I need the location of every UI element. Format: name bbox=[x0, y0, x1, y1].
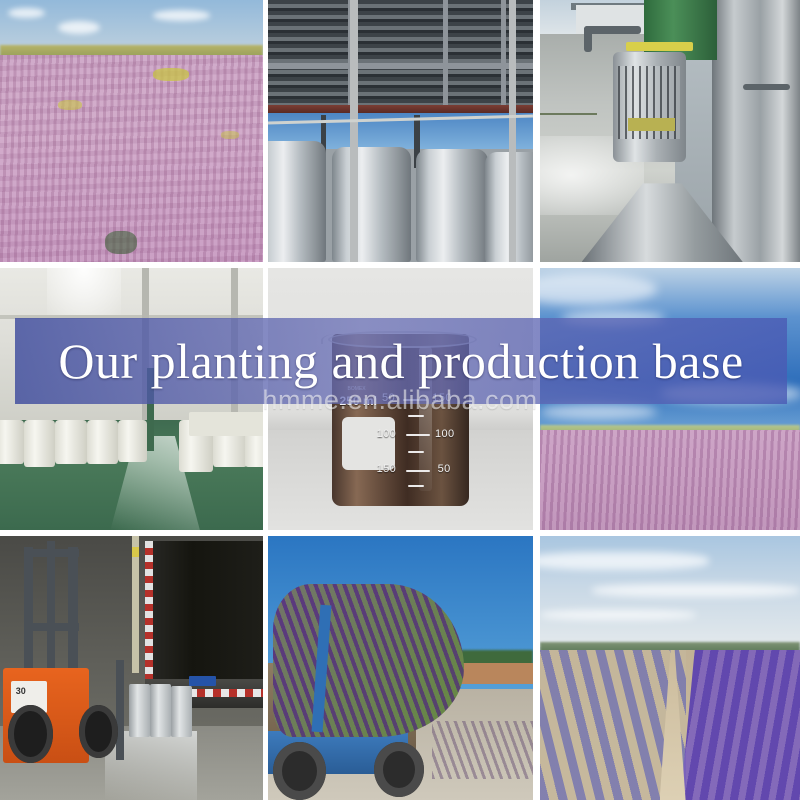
scale-label-right-2: 100 bbox=[435, 428, 455, 440]
harvested-lavender-load bbox=[273, 584, 464, 737]
side-pipe bbox=[743, 84, 790, 91]
scale-label-left-3: 150 bbox=[377, 463, 397, 475]
metal-drum bbox=[171, 686, 192, 736]
jerrycan-cap bbox=[189, 412, 263, 436]
storage-tank bbox=[268, 141, 326, 262]
jerrycan bbox=[118, 420, 147, 462]
forklift-crossbar bbox=[24, 623, 79, 631]
forklift-model-number: 30 bbox=[16, 686, 26, 696]
grid-gap bbox=[533, 0, 540, 262]
flower-field-region bbox=[0, 55, 263, 262]
cloud-shape bbox=[592, 584, 800, 597]
collage-tile-top-left[interactable]: Clary sage flower field in bloom under b… bbox=[0, 0, 263, 262]
metal-drum bbox=[150, 684, 171, 737]
lavender-rows-photo bbox=[540, 536, 800, 800]
wall-light-glare bbox=[47, 268, 121, 320]
forklift-loading-photo: 30 合力叉车 bbox=[0, 536, 263, 800]
banner-headline: Our planting and production base bbox=[58, 336, 743, 386]
yellow-flower-patch bbox=[58, 100, 82, 110]
truck-door-edge bbox=[145, 541, 153, 678]
forklift-crossbar bbox=[24, 549, 79, 557]
inlet-pipe bbox=[584, 26, 641, 34]
collage-tile-bottom-center[interactable]: Tractor trailer loaded with freshly harv… bbox=[268, 536, 533, 800]
jerrycan bbox=[24, 420, 56, 467]
inlet-pipe bbox=[584, 26, 592, 52]
collage-tile-top-right[interactable]: Stainless steel essential oil separator … bbox=[540, 0, 800, 262]
steel-tank-wall bbox=[712, 0, 800, 262]
scattered-harvest-debris bbox=[432, 721, 533, 779]
collage-tile-bottom-left[interactable]: 30 合力叉车 Orange forklift loading metal dr… bbox=[0, 536, 263, 800]
metal-drum bbox=[129, 684, 150, 737]
reflective-stripe bbox=[189, 689, 263, 697]
oil-layer bbox=[628, 118, 675, 131]
wall-band bbox=[268, 105, 533, 113]
jerrycan bbox=[55, 420, 87, 465]
foliage-patch bbox=[105, 231, 137, 255]
scale-label-right-3: 50 bbox=[438, 463, 451, 475]
separator-valve-photo bbox=[540, 0, 800, 262]
roof-beam bbox=[268, 63, 533, 70]
hose-line bbox=[540, 113, 597, 115]
support-post bbox=[509, 0, 516, 262]
roof-column bbox=[443, 0, 448, 115]
cloud-shape bbox=[540, 404, 657, 420]
cloud-shape bbox=[540, 552, 709, 570]
headline-banner: Our planting and production base bbox=[15, 318, 787, 404]
scale-tick bbox=[406, 470, 430, 472]
dock-post-band bbox=[132, 547, 140, 558]
license-plate bbox=[189, 676, 215, 687]
distillation-tanks-photo bbox=[268, 0, 533, 262]
green-distiller-body bbox=[644, 0, 717, 60]
cloud-shape bbox=[540, 610, 696, 621]
support-post bbox=[350, 0, 358, 262]
storage-tank bbox=[332, 147, 412, 262]
lavender-rows-right bbox=[680, 650, 800, 800]
collage-tile-bottom-right[interactable]: Rows of blooming lavender in a cultivate… bbox=[540, 536, 800, 800]
cloud-shape bbox=[153, 10, 211, 20]
jerrycan bbox=[0, 420, 24, 465]
forklift-wheel bbox=[8, 705, 53, 763]
scale-tick-minor bbox=[408, 415, 424, 417]
flower-field-region bbox=[540, 430, 800, 530]
collage-tile-top-center[interactable]: Row of stainless steel distillation tank… bbox=[268, 0, 533, 262]
yellow-handle bbox=[626, 42, 694, 51]
trailer-wheel bbox=[273, 742, 326, 800]
storage-tank bbox=[416, 149, 488, 262]
corrugated-roof bbox=[268, 0, 533, 110]
yellow-flower-patch bbox=[153, 68, 190, 81]
roof-column bbox=[501, 0, 506, 115]
fork-carriage bbox=[116, 660, 124, 760]
beaker-label-patch bbox=[342, 417, 395, 469]
cloud-shape bbox=[58, 21, 100, 34]
harvest-trailer-photo bbox=[268, 536, 533, 800]
grid-gap bbox=[533, 536, 540, 800]
forklift-wheel bbox=[79, 705, 118, 758]
truck-container bbox=[145, 541, 263, 678]
yellow-flower-patch bbox=[221, 131, 239, 139]
flower-field-photo bbox=[0, 0, 263, 262]
jerrycan bbox=[87, 420, 119, 465]
scale-label-left-2: 100 bbox=[377, 428, 397, 440]
collage-page: Clary sage flower field in bloom under b… bbox=[0, 0, 800, 800]
